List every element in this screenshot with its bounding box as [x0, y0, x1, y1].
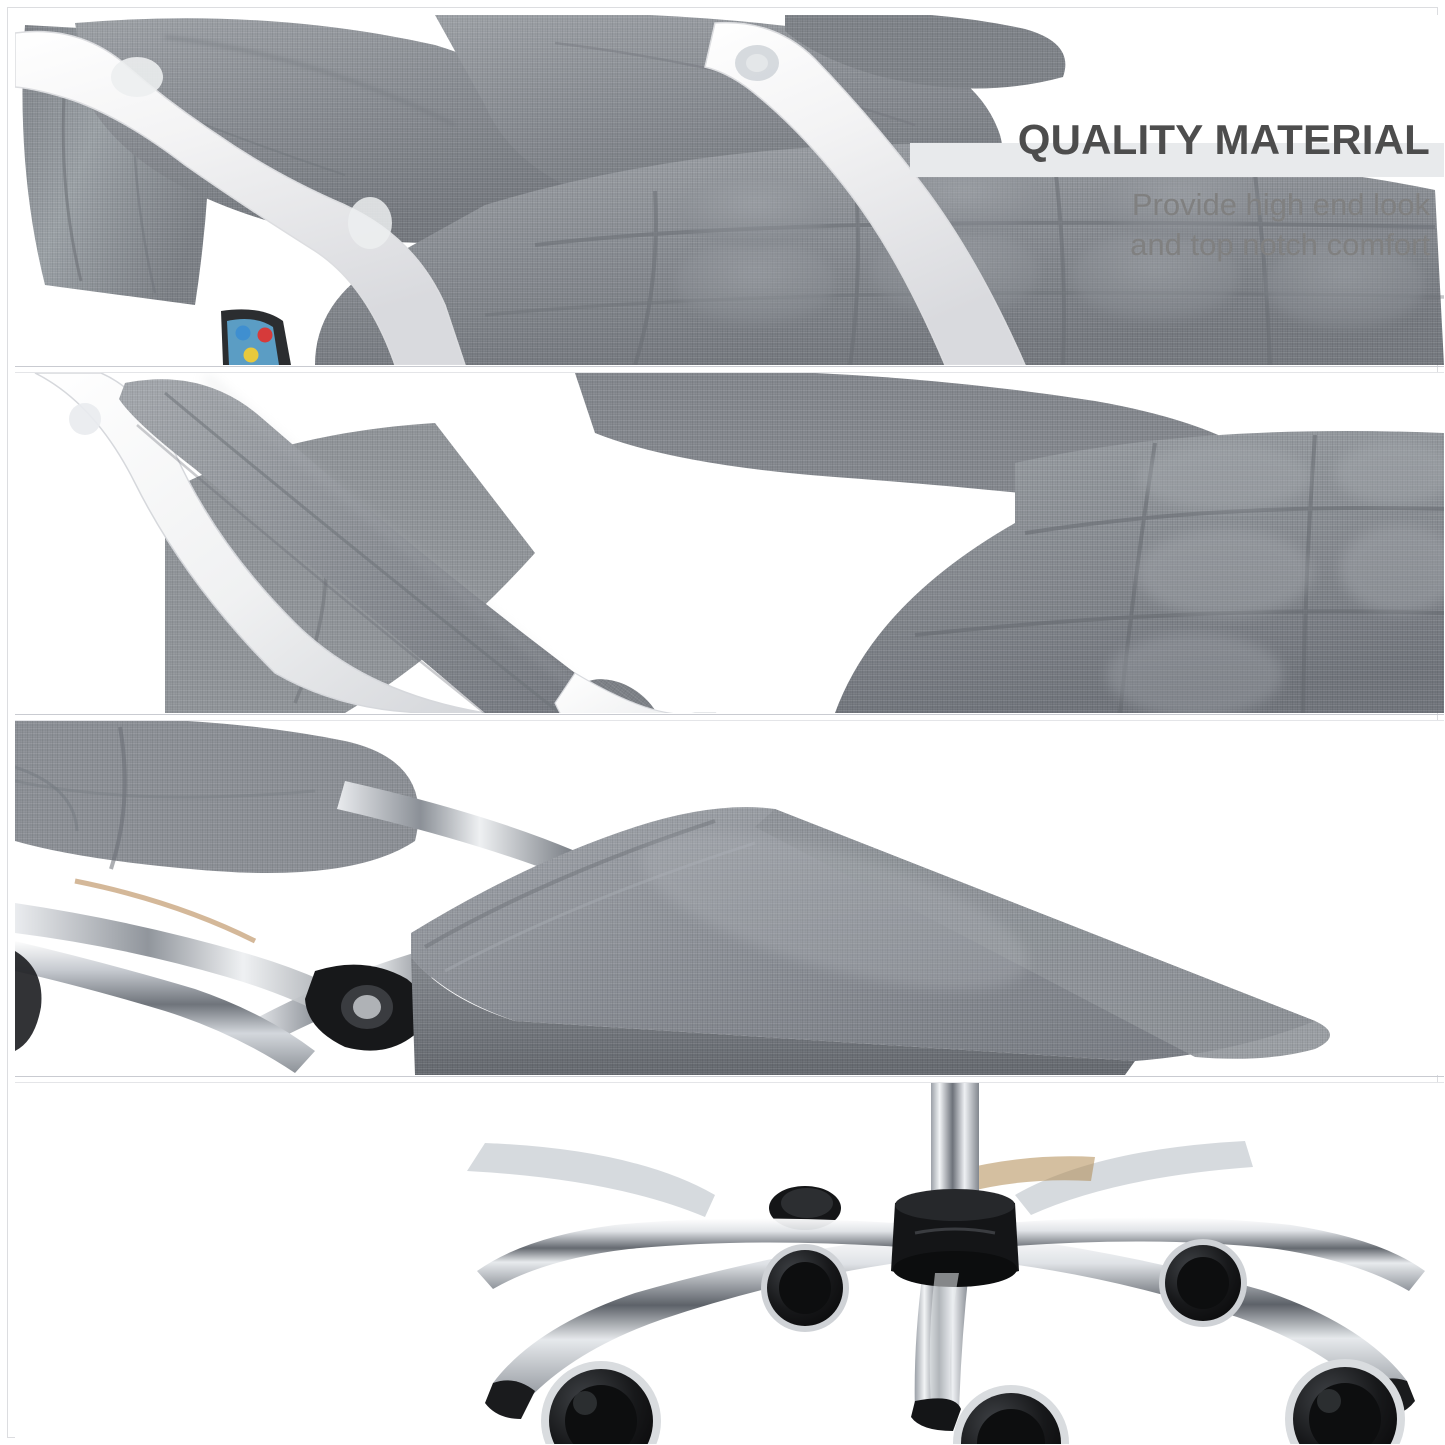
panel-padded-armrests: PADDED ARMRESTS Padded arm rests for com…	[15, 373, 1444, 713]
panel-quality-material: QUALITY MATERIAL Provide high end look a…	[15, 15, 1444, 365]
caster-rear-left-wheel	[761, 1244, 849, 1332]
panel-retractable-footrest: RECTRACTABLE FOOTREST Extendable footres…	[15, 721, 1444, 1075]
panel-divider-2b	[15, 720, 1444, 721]
remote-button-blue	[236, 326, 251, 341]
panel-sturdy-base: STURDY BASE Steady and durable for long …	[15, 1083, 1444, 1444]
gas-cylinder	[931, 1083, 979, 1205]
panel-1-text: QUALITY MATERIAL Provide high end look a…	[790, 119, 1430, 266]
infographic-sheet: QUALITY MATERIAL Provide high end look a…	[0, 0, 1445, 1445]
caster-rear-right-wheel	[1159, 1239, 1247, 1327]
base-photo	[15, 1083, 1444, 1444]
remote-button-yellow	[244, 348, 259, 363]
panel-1-subtitle: Provide high end look and top notch comf…	[790, 185, 1430, 266]
armrest-photo	[15, 373, 1444, 713]
panel-divider-1b	[15, 372, 1444, 373]
panel-divider-1	[15, 366, 1444, 367]
panel-1-heading: QUALITY MATERIAL	[1018, 119, 1430, 161]
panel-divider-3b	[15, 1082, 1444, 1083]
panel-divider-3	[15, 1076, 1444, 1077]
remote-button-red	[258, 328, 273, 343]
panel-divider-2	[15, 714, 1444, 715]
footrest-photo	[15, 721, 1444, 1075]
